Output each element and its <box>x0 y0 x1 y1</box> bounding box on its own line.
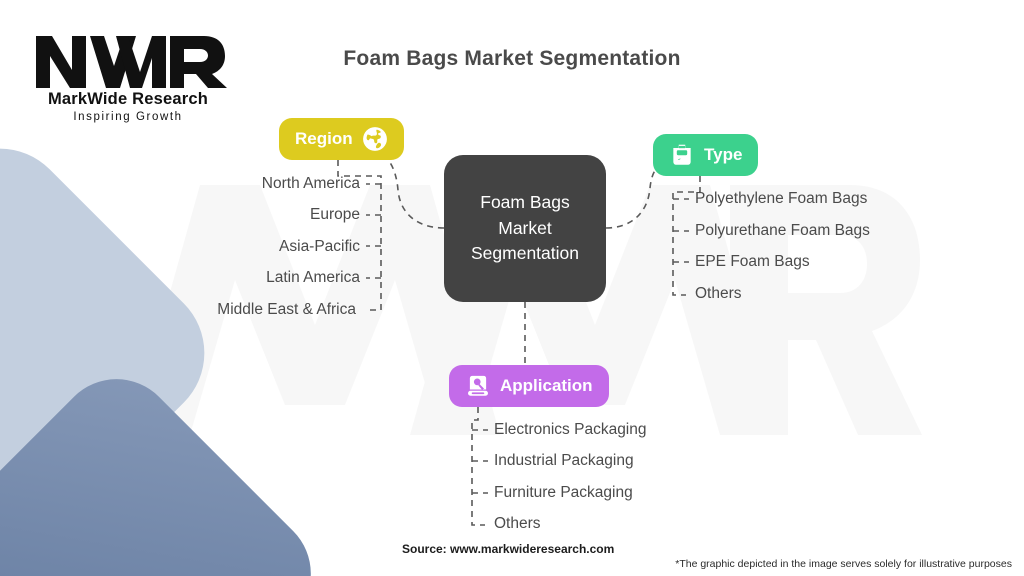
list-item-type-3: Others <box>695 285 742 303</box>
list-item-application-1: Industrial Packaging <box>494 452 634 470</box>
globe-icon <box>362 126 388 152</box>
list-item-application-2: Furniture Packaging <box>494 484 633 502</box>
branch-label-type: Type <box>704 145 742 165</box>
list-item-region-0: North America <box>262 175 360 193</box>
connector-application-trunk <box>472 407 485 525</box>
branch-label-application: Application <box>500 376 593 396</box>
branch-badge-region[interactable]: Region <box>279 118 404 160</box>
list-item-application-3: Others <box>494 515 541 533</box>
list-item-region-3: Latin America <box>266 269 360 287</box>
list-item-application-0: Electronics Packaging <box>494 421 647 439</box>
branch-badge-type[interactable]: Type <box>653 134 758 176</box>
device-icon <box>465 373 491 399</box>
list-item-type-1: Polyurethane Foam Bags <box>695 222 870 240</box>
branch-badge-application[interactable]: Application <box>449 365 609 407</box>
bag-icon <box>669 142 695 168</box>
connector-center-region <box>372 150 444 228</box>
branch-label-region: Region <box>295 129 353 149</box>
list-item-type-2: EPE Foam Bags <box>695 253 810 271</box>
disclaimer-label: *The graphic depicted in the image serve… <box>675 558 1012 570</box>
center-node: Foam Bags Market Segmentation <box>444 155 606 302</box>
list-item-type-0: Polyethylene Foam Bags <box>695 190 867 208</box>
list-item-region-4: Middle East & Africa <box>217 301 356 319</box>
source-label: Source: www.markwideresearch.com <box>402 542 614 556</box>
list-item-region-1: Europe <box>310 206 360 224</box>
list-item-region-2: Asia-Pacific <box>279 238 360 256</box>
infographic-canvas: MarkWide Research Inspiring Growth Foam … <box>0 0 1024 576</box>
